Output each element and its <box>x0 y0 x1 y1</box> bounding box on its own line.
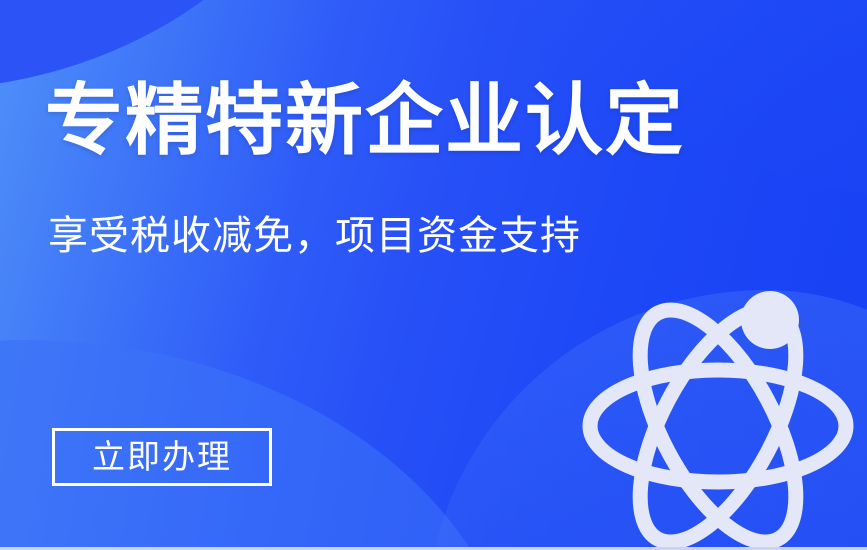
banner-subheadline: 享受税收减免，项目资金支持 <box>48 216 581 256</box>
apply-now-button[interactable]: 立即办理 <box>52 428 272 486</box>
banner-content: 专精特新企业认定 享受税收减免，项目资金支持 立即办理 <box>0 0 867 550</box>
atom-electron-dot <box>741 291 799 349</box>
promo-banner: 专精特新企业认定 享受税收减免，项目资金支持 立即办理 <box>0 0 867 550</box>
atom-icon <box>578 276 858 548</box>
atom-icon-svg <box>578 276 858 548</box>
atom-orbit-horizontal <box>590 370 846 482</box>
banner-headline: 专精特新企业认定 <box>45 82 685 160</box>
